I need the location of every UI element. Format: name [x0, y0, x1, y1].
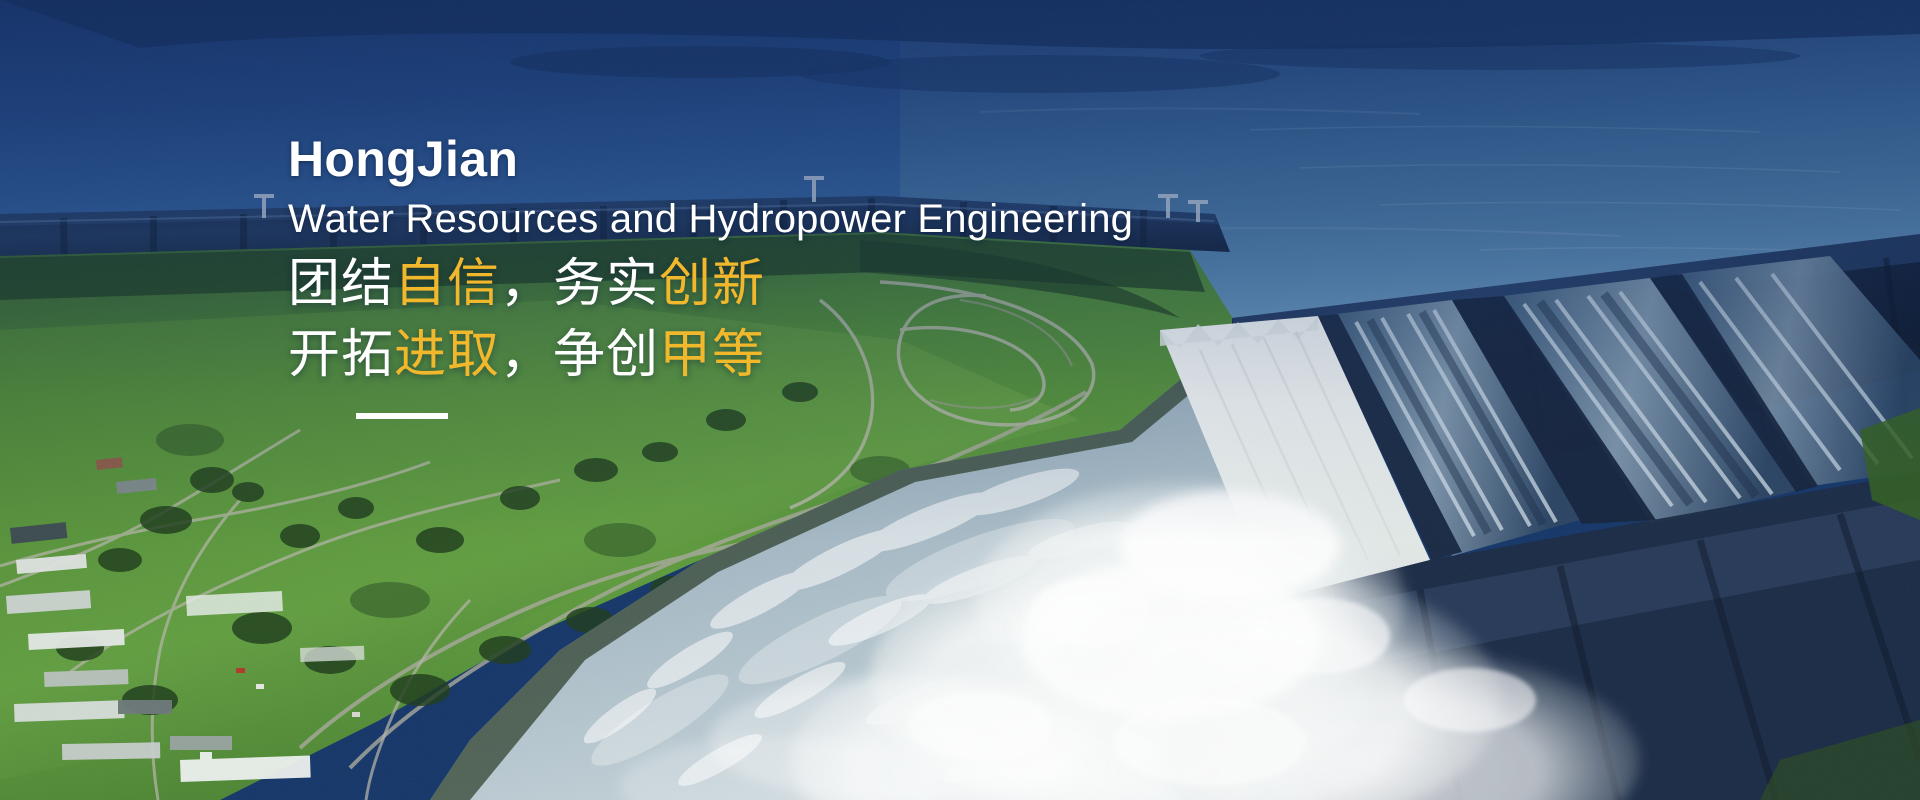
slogan-1-seg-4: 创新 — [659, 255, 765, 313]
hero-copy: HongJian Water Resources and Hydropower … — [288, 134, 1288, 427]
slogan-1-seg-1: 团结 — [288, 255, 394, 313]
hero-banner: HongJian Water Resources and Hydropower … — [0, 0, 1920, 800]
slogan-line-1: 团结自信，务实创新 — [288, 249, 1288, 320]
slogan-1-seg-2: 自信 — [394, 255, 500, 313]
brand-subtitle: Water Resources and Hydropower Engineeri… — [288, 198, 1288, 241]
slogan-underline-rule — [356, 413, 448, 419]
slogan-2-seg-1: 开拓 — [288, 326, 394, 384]
slogan-2-seg-3: ，争创 — [500, 326, 659, 384]
slogan-line-2: 开拓进取，争创甲等 — [288, 320, 1288, 391]
slogan-2-seg-2: 进取 — [394, 326, 500, 384]
slogan-2-seg-4: 甲等 — [659, 326, 765, 384]
slogan-1-seg-3: ，务实 — [500, 255, 659, 313]
brand-title: HongJian — [288, 134, 1288, 184]
